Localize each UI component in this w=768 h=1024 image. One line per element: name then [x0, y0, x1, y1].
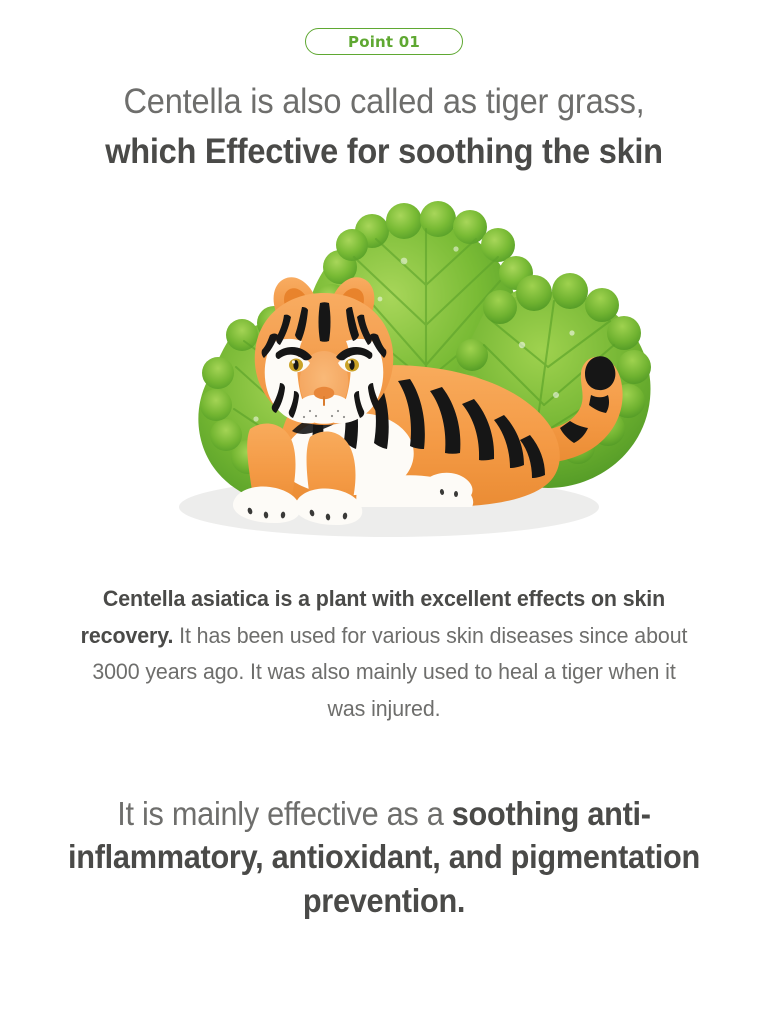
conclusion-paragraph: It is mainly effective as a soothing ant… [59, 792, 710, 923]
tiger-head [255, 278, 394, 426]
illustration-svg [104, 195, 664, 555]
product-detail-page: Point 01 Centella is also called as tige… [0, 0, 768, 1024]
tiger-centella-illustration [104, 195, 664, 555]
body-paragraph: Centella asiatica is a plant with excell… [80, 581, 688, 727]
headline-line-2: which Effective for soothing the skin [49, 131, 719, 174]
page-title: Centella is also called as tiger grass, … [24, 81, 744, 173]
headline-line-1: Centella is also called as tiger grass, [49, 81, 719, 124]
point-badge: Point 01 [305, 28, 463, 55]
badge-row: Point 01 [0, 28, 768, 55]
conclusion-normal-text: It is mainly effective as a [117, 795, 451, 832]
body-rest-sentence: It has been used for various skin diseas… [92, 623, 687, 721]
